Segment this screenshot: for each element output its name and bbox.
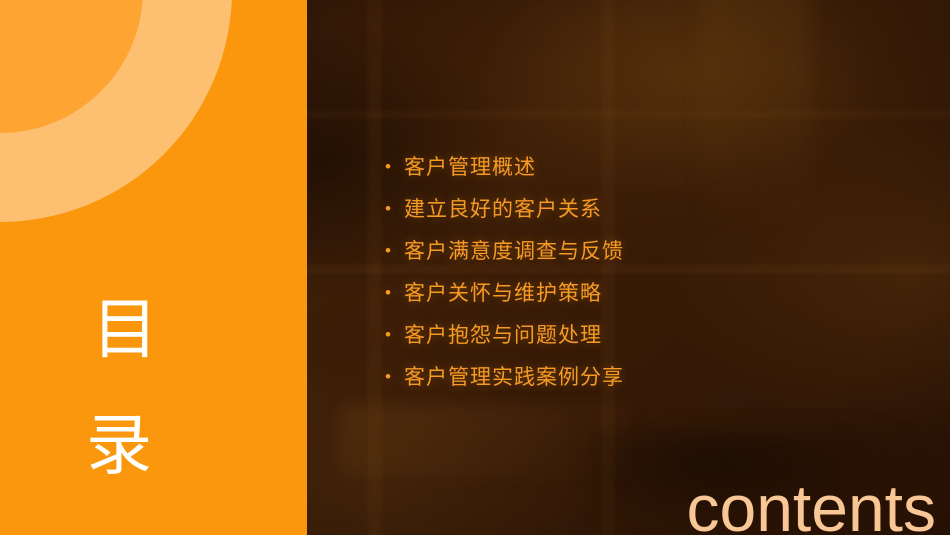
toc-item-label: 客户管理实践案例分享 — [404, 361, 624, 391]
toc-item-label: 客户抱怨与问题处理 — [404, 319, 602, 349]
bullet-dot-icon: • — [385, 200, 404, 217]
bullet-dot-icon: • — [385, 284, 404, 301]
page-title-char-1: 目 — [92, 296, 160, 362]
contents-wordmark: contents — [687, 475, 937, 535]
bullet-dot-icon: • — [385, 326, 404, 343]
presentation-slide: 目 录 • 客户管理概述 • 建立良好的客户关系 • 客户满意度调查与反馈 • … — [0, 0, 950, 535]
table-of-contents-list: • 客户管理概述 • 建立良好的客户关系 • 客户满意度调查与反馈 • 客户关怀… — [385, 145, 624, 397]
toc-item-4[interactable]: • 客户关怀与维护策略 — [385, 271, 624, 313]
toc-item-label: 建立良好的客户关系 — [404, 193, 602, 223]
toc-item-6[interactable]: • 客户管理实践案例分享 — [385, 355, 624, 397]
toc-item-label: 客户管理概述 — [404, 151, 536, 181]
toc-item-label: 客户满意度调查与反馈 — [404, 235, 624, 265]
page-title-char-2: 录 — [86, 412, 154, 478]
toc-item-3[interactable]: • 客户满意度调查与反馈 — [385, 229, 624, 271]
toc-item-label: 客户关怀与维护策略 — [404, 277, 602, 307]
left-orange-panel: 目 录 — [0, 0, 307, 535]
toc-item-5[interactable]: • 客户抱怨与问题处理 — [385, 313, 624, 355]
toc-item-2[interactable]: • 建立良好的客户关系 — [385, 187, 624, 229]
bullet-dot-icon: • — [385, 158, 404, 175]
bullet-dot-icon: • — [385, 368, 404, 385]
bullet-dot-icon: • — [385, 242, 404, 259]
toc-item-1[interactable]: • 客户管理概述 — [385, 145, 624, 187]
